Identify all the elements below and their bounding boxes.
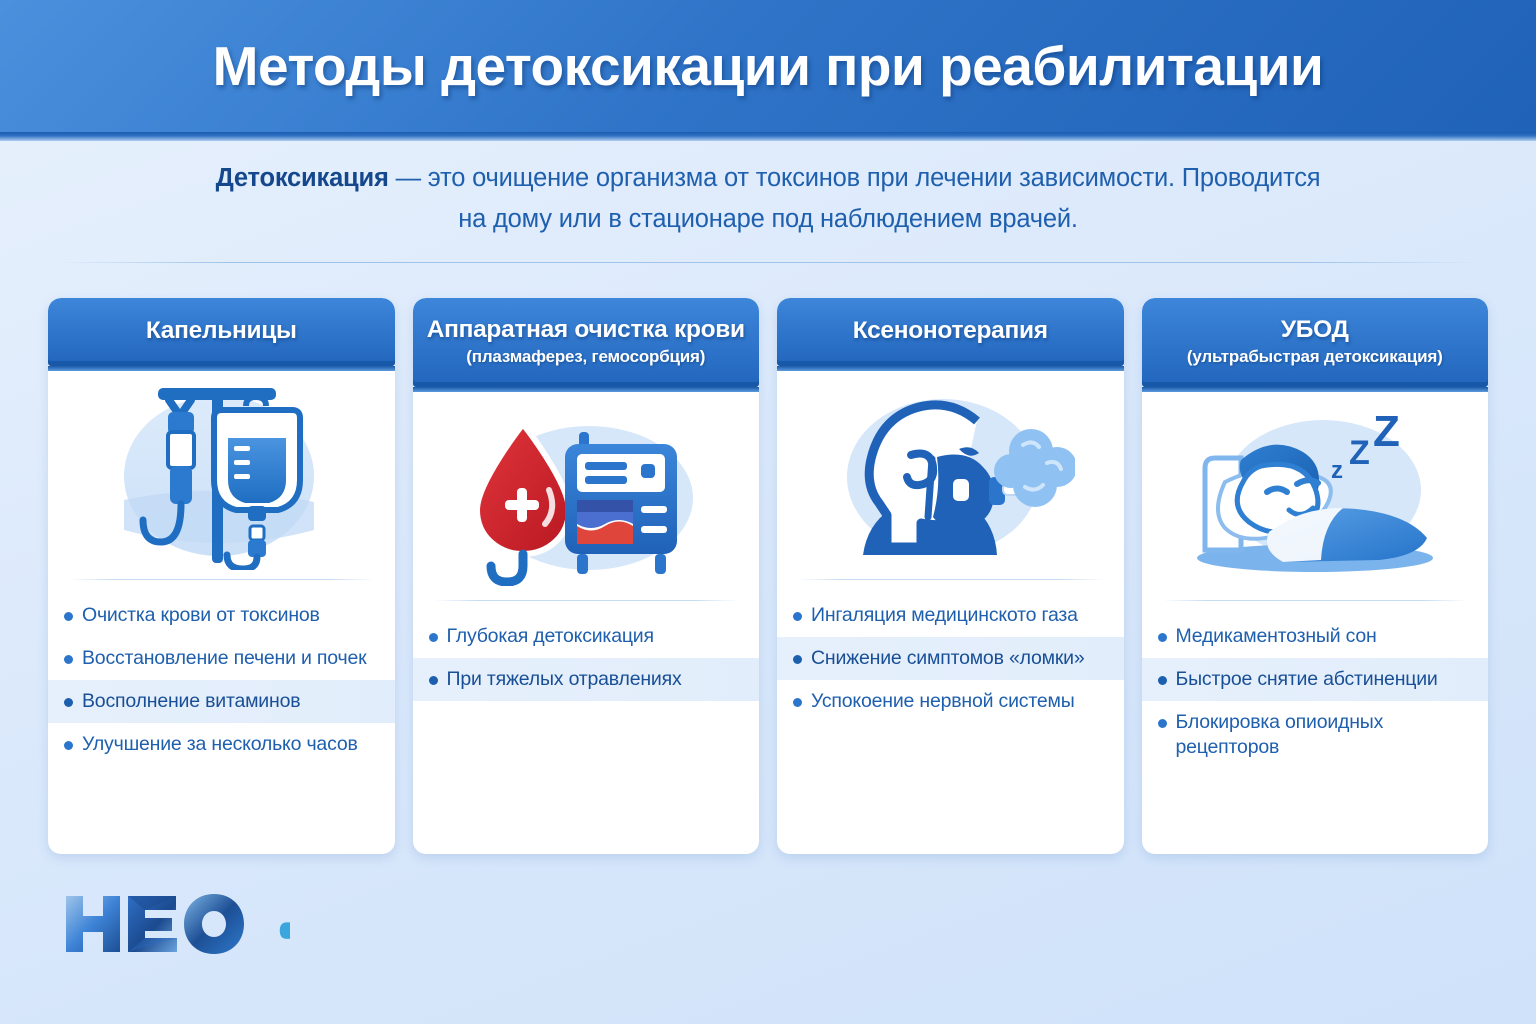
- list-item[interactable]: Улучшение за несколько часов: [48, 723, 395, 766]
- iv-drip-icon: [106, 380, 336, 570]
- intro-line-1: Детоксикация — это очищение организма от…: [150, 158, 1386, 199]
- list-item[interactable]: Глубокая детоксикация: [413, 615, 760, 658]
- bullet-dot-icon: [64, 698, 73, 707]
- card-subtitle: (ультрабыстрая детоксикация): [1152, 345, 1479, 368]
- list-item-label: Очистка крови от токсинов: [82, 603, 320, 628]
- list-item[interactable]: Восстановление печени и почек: [48, 637, 395, 680]
- benefits-list-xenon-therapy: Ингаляция медицинското газа Снижение сим…: [777, 594, 1124, 854]
- list-separator: [797, 579, 1104, 580]
- list-item-label: Медикаментозный сон: [1176, 624, 1377, 649]
- section-divider: [57, 262, 1479, 263]
- intro-paragraph: Детоксикация — это очищение организма от…: [150, 158, 1386, 240]
- bullet-dot-icon: [1158, 719, 1167, 728]
- benefits-list-ubod: Медикаментозный сон Быстрое снятие абсти…: [1142, 615, 1489, 854]
- list-item[interactable]: Блокировка опиоидных рецепторов: [1142, 701, 1489, 769]
- list-item[interactable]: Быстрое снятие абстиненции: [1142, 658, 1489, 701]
- list-item[interactable]: При тяжелых отравлениях: [413, 658, 760, 701]
- intro-lead-word: Детоксикация: [216, 164, 389, 192]
- card-subtitle: (плазмаферез, гемосорбция): [423, 345, 750, 368]
- blood-purification-icon: [461, 406, 711, 586]
- card-header-droppers: Капельницы: [48, 298, 395, 366]
- card-header-ubod: УБОД (ультрабыстрая детоксикация): [1142, 298, 1489, 387]
- list-separator: [1162, 600, 1469, 601]
- method-card-droppers[interactable]: Капельницы: [48, 298, 395, 854]
- bullet-dot-icon: [793, 612, 802, 621]
- list-item[interactable]: Очистка крови от токсинов: [48, 594, 395, 637]
- page-title: Методы детоксикации при реабилитации: [213, 34, 1324, 98]
- bullet-dot-icon: [64, 655, 73, 664]
- page-header: Методы детоксикации при реабилитации: [0, 0, 1536, 132]
- bullet-dot-icon: [429, 633, 438, 642]
- bullet-dot-icon: [1158, 676, 1167, 685]
- bullet-dot-icon: [64, 612, 73, 621]
- card-header-xenon-therapy: Ксенонотерапия: [777, 298, 1124, 366]
- list-item-label: Снижение симптомов «ломки»: [811, 646, 1085, 671]
- oxygen-mask-inhalation-icon: [825, 385, 1075, 565]
- list-item-label: Быстрое снятие абстиненции: [1176, 667, 1438, 692]
- list-separator: [68, 579, 375, 580]
- icon-area: [413, 392, 760, 600]
- bullet-dot-icon: [429, 676, 438, 685]
- icon-area: [777, 371, 1124, 579]
- method-card-hardware-blood-cleaning[interactable]: Аппаратная очистка крови (плазмаферез, г…: [413, 298, 760, 854]
- icon-area: z Z Z: [1142, 392, 1489, 600]
- method-cards-grid: Капельницы: [48, 298, 1488, 854]
- list-item-label: Восполнение витаминов: [82, 689, 300, 714]
- card-title: Ксенонотерапия: [787, 316, 1114, 346]
- bullet-dot-icon: [793, 655, 802, 664]
- list-item-label: Глубокая детоксикация: [447, 624, 654, 649]
- list-item-label: Блокировка опиоидных рецепторов: [1176, 710, 1475, 760]
- list-item[interactable]: Успокоение нервной системы: [777, 680, 1124, 723]
- list-item-label: Улучшение за несколько часов: [82, 732, 358, 757]
- list-item-label: Успокоение нервной системы: [811, 689, 1075, 714]
- card-header-hardware-blood-cleaning: Аппаратная очистка крови (плазмаферез, г…: [413, 298, 760, 387]
- list-item-label: Ингаляция медицинското газа: [811, 603, 1078, 628]
- intro-line-2: на дому или в стационаре под наблюдением…: [150, 199, 1386, 240]
- neo-plus-logo-icon: [60, 888, 290, 960]
- bullet-dot-icon: [1158, 633, 1167, 642]
- method-card-xenon-therapy[interactable]: Ксенонотерапия: [777, 298, 1124, 854]
- header-underline: [0, 132, 1536, 141]
- list-separator: [433, 600, 740, 601]
- list-item-label: Восстановление печени и почек: [82, 646, 366, 671]
- list-item[interactable]: Снижение симптомов «ломки»: [777, 637, 1124, 680]
- svg-text:z: z: [1331, 457, 1343, 484]
- svg-text:Z: Z: [1349, 434, 1370, 472]
- bullet-dot-icon: [793, 698, 802, 707]
- bullet-dot-icon: [64, 741, 73, 750]
- benefits-list-hardware-blood-cleaning: Глубокая детоксикация При тяжелых отравл…: [413, 615, 760, 854]
- intro-line-1-rest: — это очищение организма от токсинов при…: [389, 164, 1321, 192]
- list-item-label: При тяжелых отравлениях: [447, 667, 682, 692]
- neo-plus-logo[interactable]: [60, 888, 290, 960]
- list-item[interactable]: Восполнение витаминов: [48, 680, 395, 723]
- list-item[interactable]: Медикаментозный сон: [1142, 615, 1489, 658]
- list-item[interactable]: Ингаляция медицинското газа: [777, 594, 1124, 637]
- method-card-ubod[interactable]: УБОД (ультрабыстрая детоксикация): [1142, 298, 1489, 854]
- svg-text:Z: Z: [1373, 407, 1400, 456]
- benefits-list-droppers: Очистка крови от токсинов Восстановление…: [48, 594, 395, 854]
- sleeping-patient-icon: z Z Z: [1185, 406, 1445, 586]
- card-title: УБОД: [1152, 315, 1479, 345]
- card-title: Капельницы: [58, 316, 385, 346]
- icon-area: [48, 371, 395, 579]
- card-title: Аппаратная очистка крови: [423, 315, 750, 345]
